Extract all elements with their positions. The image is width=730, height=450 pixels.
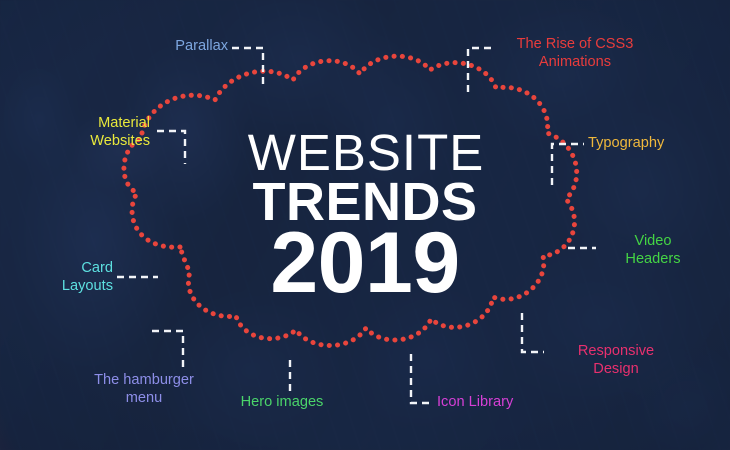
infographic-canvas: WEBSITE TRENDS 2019 Parallax Material We… — [0, 0, 730, 450]
callout-label-parallax[interactable]: Parallax — [96, 38, 228, 56]
callout-label-responsive-design[interactable]: Responsive Design — [548, 343, 684, 378]
callout-label-typography[interactable]: Typography — [588, 135, 718, 153]
cloud-outline-icon — [124, 56, 577, 345]
callout-label-hamburger-menu[interactable]: The hamburger menu — [78, 372, 210, 407]
connector-group — [117, 48, 596, 403]
callout-label-material-websites[interactable]: Material Websites — [30, 115, 150, 150]
callout-label-card-layouts[interactable]: Card Layouts — [8, 260, 113, 295]
callout-label-css3-animations[interactable]: The Rise of CSS3 Animations — [500, 36, 650, 71]
connector-parallax — [232, 48, 263, 86]
callout-label-hero-images[interactable]: Hero images — [222, 394, 342, 412]
connector-material — [157, 131, 185, 164]
callout-label-video-headers[interactable]: Video Headers — [600, 233, 706, 268]
connector-hamburger — [152, 331, 183, 367]
callout-label-icon-library[interactable]: Icon Library — [437, 394, 567, 412]
connector-icon — [411, 354, 433, 403]
connector-responsive — [522, 313, 544, 352]
